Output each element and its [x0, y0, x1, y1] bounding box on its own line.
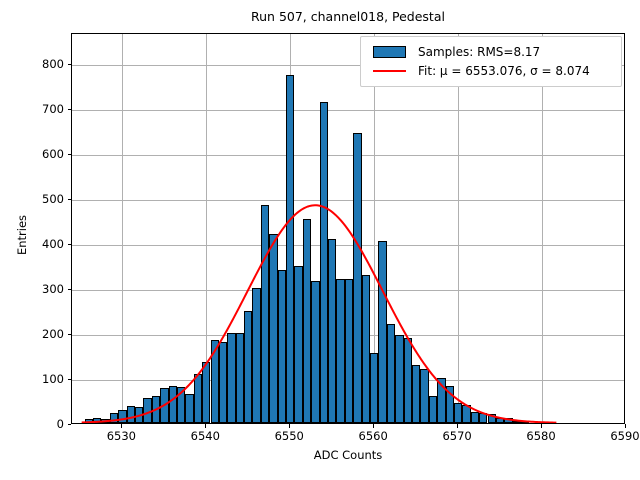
y-tick-label: 500	[6, 192, 64, 206]
histogram-bar	[420, 369, 428, 423]
x-tick-mark	[373, 424, 374, 428]
histogram-bar	[236, 333, 244, 423]
y-tick-label: 400	[6, 237, 64, 251]
histogram-bar	[269, 234, 277, 423]
histogram-bar	[93, 418, 101, 423]
histogram-bar	[513, 421, 521, 423]
histogram-bar	[286, 75, 294, 423]
histogram-bar	[85, 419, 93, 423]
histogram-bar	[504, 418, 512, 423]
histogram-bar	[219, 342, 227, 423]
y-tick-label: 100	[6, 372, 64, 386]
x-tick-label: 6570	[422, 429, 492, 443]
histogram-bar	[320, 102, 328, 423]
histogram-bar	[462, 405, 470, 423]
histogram-bar	[169, 386, 177, 423]
x-tick-label: 6580	[506, 429, 576, 443]
y-tick-label: 200	[6, 327, 64, 341]
histogram-bar	[135, 407, 143, 423]
histogram-bar	[278, 270, 286, 423]
histogram-bar	[471, 412, 479, 423]
histogram-bar	[336, 279, 344, 423]
figure-canvas: Run 507, channel018, Pedestal Entries AD…	[0, 0, 640, 480]
histogram-bar	[303, 219, 311, 423]
legend-item-fit[interactable]: Fit: μ = 6553.076, σ = 8.074	[369, 61, 613, 80]
histogram-bar	[446, 386, 454, 423]
legend-line-icon	[369, 70, 409, 72]
histogram-bar	[194, 374, 202, 423]
histogram-bar	[202, 362, 210, 423]
histogram-bar	[211, 340, 219, 423]
histogram-bar	[437, 378, 445, 423]
histogram-bar	[110, 413, 118, 423]
histogram-bar	[479, 413, 487, 423]
legend-swatch-icon	[369, 46, 409, 58]
histogram-bar	[328, 239, 336, 423]
x-axis-label: ADC Counts	[71, 448, 625, 462]
histogram-bar	[227, 333, 235, 423]
x-tick-label: 6530	[86, 429, 156, 443]
histogram-bar	[429, 396, 437, 423]
legend-label-samples: Samples: RMS=8.17	[418, 45, 540, 59]
histogram-bar	[177, 387, 185, 423]
histogram-bar	[311, 281, 319, 423]
histogram-bar	[353, 133, 361, 423]
histogram-bar	[244, 311, 252, 423]
page-title: Run 507, channel018, Pedestal	[71, 9, 625, 25]
plot-area	[71, 33, 625, 424]
histogram-bar	[387, 324, 395, 423]
x-tick-label: 6550	[254, 429, 324, 443]
gridline	[458, 34, 459, 423]
histogram-bar	[378, 241, 386, 423]
histogram-bar	[294, 266, 302, 423]
histogram-bar	[404, 338, 412, 423]
x-tick-label: 6590	[590, 429, 640, 443]
histogram-bar	[101, 419, 109, 423]
histogram-bar	[521, 421, 529, 423]
y-tick-label: 800	[6, 57, 64, 71]
legend-item-samples[interactable]: Samples: RMS=8.17	[369, 42, 613, 61]
x-tick-mark	[205, 424, 206, 428]
histogram-bar	[143, 398, 151, 423]
x-tick-mark	[457, 424, 458, 428]
histogram-bar	[362, 275, 370, 423]
legend-label-fit: Fit: μ = 6553.076, σ = 8.074	[418, 64, 590, 78]
histogram-bar	[395, 335, 403, 423]
gridline	[122, 34, 123, 423]
histogram-bar	[185, 394, 193, 423]
histogram-bar	[496, 418, 504, 423]
histogram-bar	[160, 388, 168, 423]
y-tick-label: 300	[6, 282, 64, 296]
histogram-bar	[370, 353, 378, 423]
histogram-bar	[488, 414, 496, 423]
x-tick-mark	[289, 424, 290, 428]
histogram-bar	[412, 365, 420, 423]
x-tick-mark	[625, 424, 626, 428]
histogram-bar	[345, 279, 353, 423]
histogram-bar	[127, 406, 135, 423]
histogram-bar	[152, 396, 160, 423]
histogram-bar	[252, 288, 260, 423]
x-tick-label: 6560	[338, 429, 408, 443]
x-tick-mark	[541, 424, 542, 428]
y-tick-label: 700	[6, 102, 64, 116]
y-tick-label: 0	[6, 417, 64, 431]
histogram-bar	[118, 410, 126, 423]
histogram-bar	[454, 403, 462, 423]
x-tick-label: 6540	[170, 429, 240, 443]
histogram-bar	[261, 205, 269, 423]
x-tick-mark	[121, 424, 122, 428]
gridline	[542, 34, 543, 423]
chart-legend[interactable]: Samples: RMS=8.17 Fit: μ = 6553.076, σ =…	[360, 36, 622, 87]
y-tick-label: 600	[6, 147, 64, 161]
y-tick-mark	[68, 424, 72, 425]
